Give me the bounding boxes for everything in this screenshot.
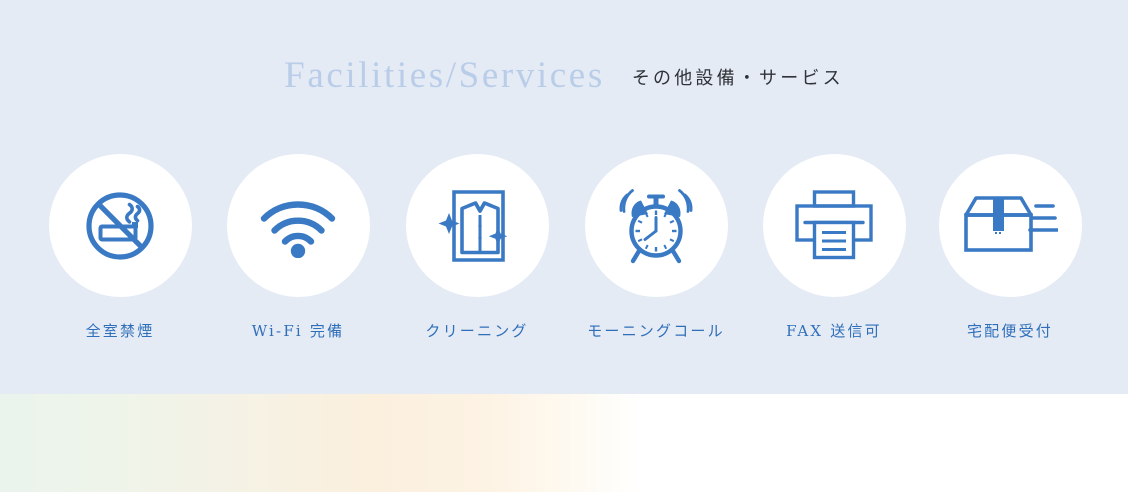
facility-item-morning-call[interactable]: モーニングコール [567,154,745,341]
laundry-shirt-icon [438,185,516,267]
bottom-gradient-band [0,394,643,492]
icon-circle [406,154,549,297]
facility-item-label: クリーニング [388,321,566,341]
bottom-strip [0,394,1128,492]
icon-circle [939,154,1082,297]
page-title: Facilities/Services [284,56,605,96]
facility-item-delivery[interactable]: 宅配便受付 [921,154,1099,341]
icon-circle [585,154,728,297]
alarm-clock-icon [611,186,701,266]
facility-item-label: モーニングコール [567,321,745,341]
facility-item-cleaning[interactable]: クリーニング [388,154,566,341]
facility-item-wifi[interactable]: Wi-Fi 完備 [209,154,387,341]
icon-circle [763,154,906,297]
facility-item-label: FAX 送信可 [745,321,923,341]
icon-circle [49,154,192,297]
facility-item-label: 全室禁煙 [31,321,209,341]
fax-printer-icon [792,187,876,265]
icon-circle [227,154,370,297]
delivery-box-icon [962,192,1058,260]
facility-item-label: 宅配便受付 [921,321,1099,341]
wifi-icon [257,194,339,258]
facilities-services-section: Facilities/Services その他設備・サービス 全室禁煙 [0,0,1128,492]
facility-item-label: Wi-Fi 完備 [209,321,387,341]
facility-items-row: 全室禁煙 Wi-Fi 完備 [0,154,1128,354]
page-subtitle: その他設備・サービス [632,67,844,91]
no-smoking-icon [82,188,158,264]
section-heading: Facilities/Services その他設備・サービス [0,56,1128,108]
facility-item-no-smoking[interactable]: 全室禁煙 [31,154,209,341]
facility-item-fax[interactable]: FAX 送信可 [745,154,923,341]
